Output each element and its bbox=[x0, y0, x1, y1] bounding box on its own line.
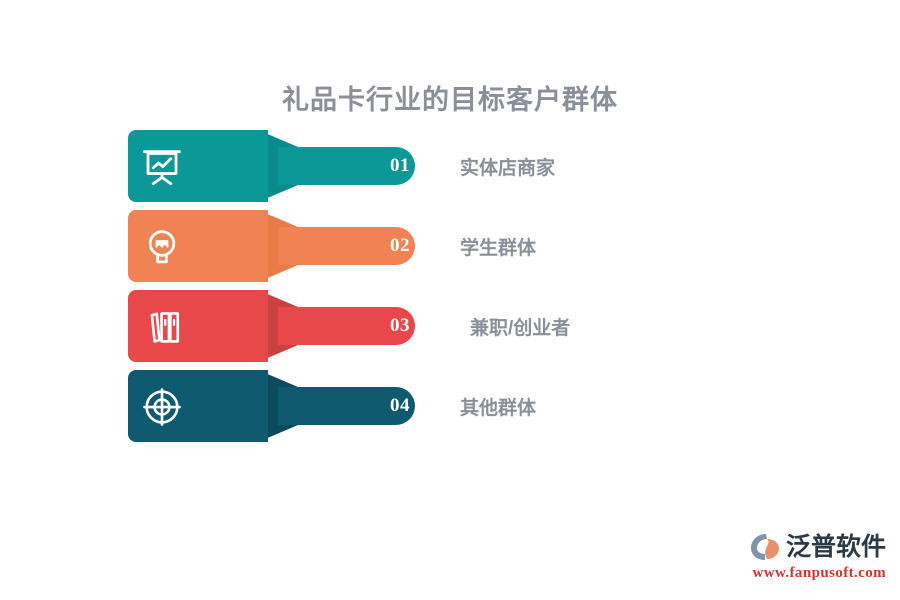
row-number: 04 bbox=[128, 370, 418, 442]
row-number: 02 bbox=[128, 210, 418, 282]
infographic-row[interactable]: 03 兼职/创业者 bbox=[0, 290, 900, 362]
logo-mark-primary bbox=[751, 534, 767, 560]
row-number: 01 bbox=[128, 130, 418, 202]
row-number: 03 bbox=[128, 290, 418, 362]
brand-name: 泛普软件 bbox=[786, 535, 886, 560]
row-label: 学生群体 bbox=[460, 210, 536, 282]
row-label: 兼职/创业者 bbox=[470, 290, 570, 362]
infographic-root: 礼品卡行业的目标客户群体 01 bbox=[0, 0, 900, 600]
brand-logo-row: 泛普软件 bbox=[736, 530, 886, 564]
row-label: 实体店商家 bbox=[460, 130, 555, 202]
row-label: 其他群体 bbox=[460, 370, 536, 442]
brand-url: www.fanpusoft.com bbox=[736, 565, 886, 582]
infographic-row[interactable]: 01 实体店商家 bbox=[0, 130, 900, 202]
infographic-row[interactable]: 02 学生群体 bbox=[0, 210, 900, 282]
fanpu-logo-mark bbox=[750, 532, 782, 562]
logo-mark-accent bbox=[765, 539, 779, 559]
page-title: 礼品卡行业的目标客户群体 bbox=[0, 78, 900, 117]
infographic-row[interactable]: 04 其他群体 bbox=[0, 370, 900, 442]
rows-container: 01 实体店商家 02 学生群体 bbox=[0, 130, 900, 450]
brand-watermark: 泛普软件 www.fanpusoft.com bbox=[736, 530, 886, 588]
